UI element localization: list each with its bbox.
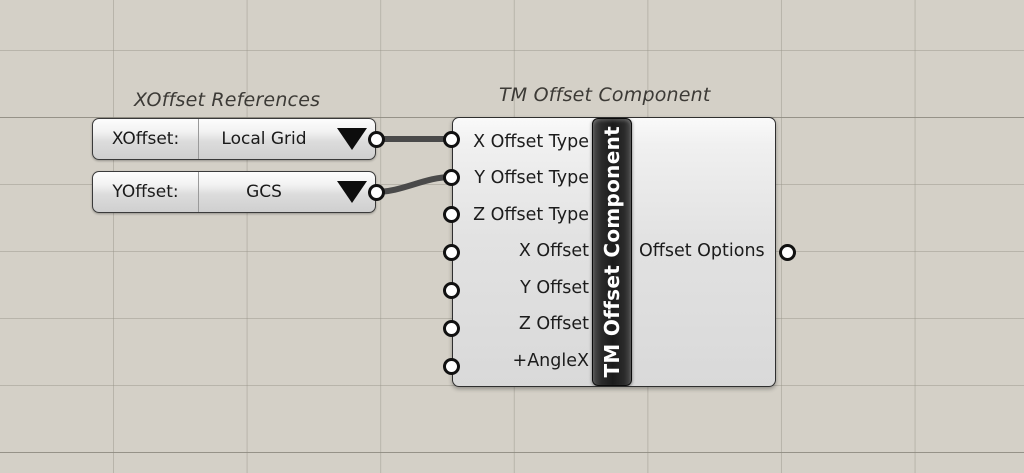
component-input-labels: X Offset Type Y Offset Type Z Offset Typ… — [453, 118, 597, 386]
xoffset-value-list[interactable]: XOffset: Local Grid — [92, 118, 376, 160]
input-label-x-offset-type: X Offset Type — [473, 134, 597, 152]
input-port-y-offset[interactable] — [443, 282, 460, 299]
input-label-angle-x: +AngleX — [513, 353, 597, 371]
triangle-down-icon — [337, 128, 367, 150]
yoffset-value-list-value[interactable]: GCS — [199, 172, 329, 212]
node-editor-canvas[interactable]: XOffset References YOffset References TM… — [0, 0, 1024, 473]
component-name-bar-text: TM Offset Component — [600, 126, 624, 378]
input-label-y-offset-type: Y Offset Type — [474, 170, 597, 188]
component-name-bar[interactable]: TM Offset Component — [592, 118, 632, 386]
xoffset-value-list-value[interactable]: Local Grid — [199, 119, 329, 159]
triangle-down-icon — [337, 181, 367, 203]
yoffset-value-list[interactable]: YOffset: GCS — [92, 171, 376, 213]
output-port-offset-options[interactable] — [779, 244, 796, 261]
input-port-x-offset[interactable] — [443, 244, 460, 261]
input-port-angle-x[interactable] — [443, 358, 460, 375]
wire-yoffset-to-y-offset-type — [376, 177, 451, 192]
input-label-x-offset: X Offset — [519, 243, 597, 261]
yoffset-value-list-label: YOffset: — [93, 172, 199, 212]
yoffset-output-port[interactable] — [368, 184, 385, 201]
output-label-offset-options: Offset Options — [639, 243, 761, 261]
input-port-z-offset[interactable] — [443, 320, 460, 337]
input-label-z-offset: Z Offset — [519, 316, 597, 334]
caption-tm-offset-component: TM Offset Component — [499, 84, 711, 106]
input-port-z-offset-type[interactable] — [443, 206, 460, 223]
input-port-y-offset-type[interactable] — [443, 169, 460, 186]
input-port-x-offset-type[interactable] — [443, 131, 460, 148]
caption-xoffset-references: XOffset References — [134, 89, 320, 111]
xoffset-output-port[interactable] — [368, 131, 385, 148]
input-label-y-offset: Y Offset — [520, 280, 597, 298]
component-output-labels: Offset Options — [639, 118, 761, 386]
input-label-z-offset-type: Z Offset Type — [473, 207, 597, 225]
tm-offset-component[interactable]: X Offset Type Y Offset Type Z Offset Typ… — [452, 117, 776, 387]
xoffset-value-list-label: XOffset: — [93, 119, 199, 159]
